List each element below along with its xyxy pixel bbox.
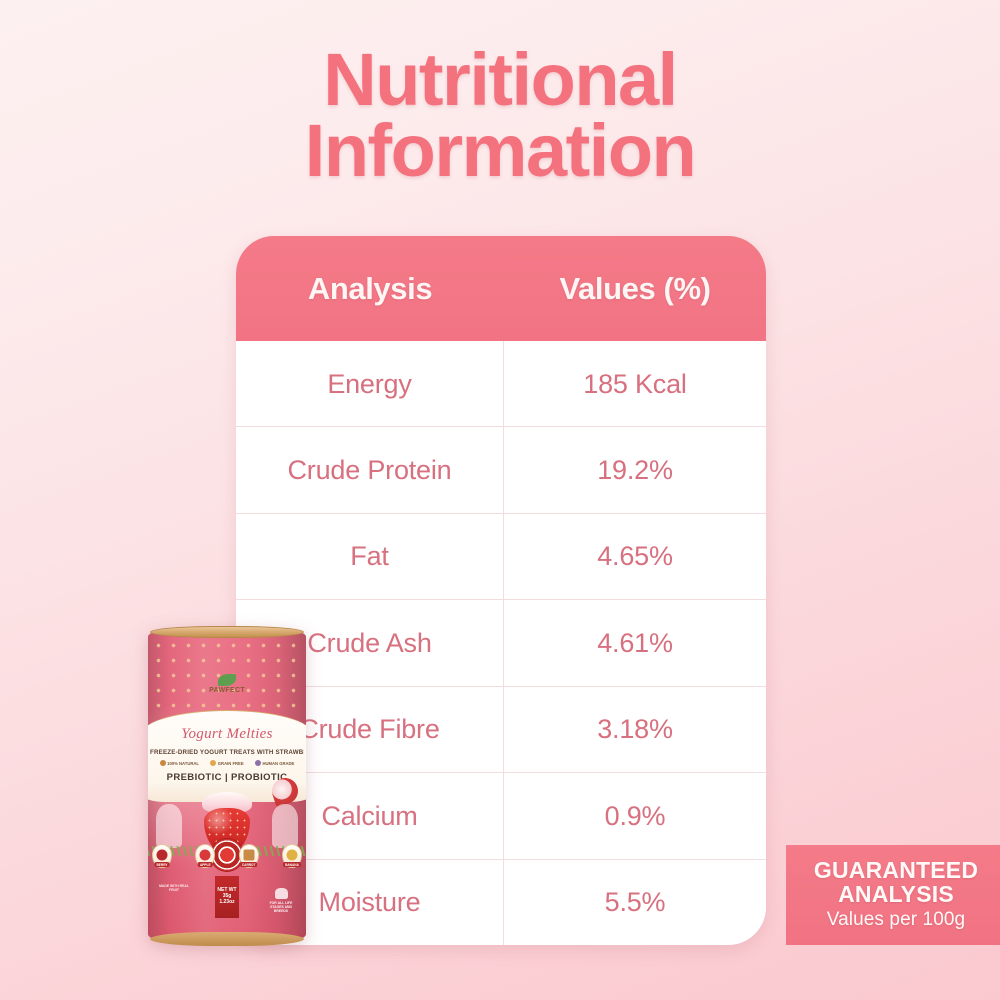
can-note-right-label: FOR ALL LIFE STAGES AND BREEDS <box>264 901 298 913</box>
column-header-values: Values (%) <box>504 271 766 307</box>
table-row: Moisture 5.5% <box>236 859 766 945</box>
ingredient-label: BANANA <box>283 862 301 867</box>
table-header-row: Analysis Values (%) <box>236 236 766 341</box>
table-row: Energy 185 Kcal <box>236 341 766 426</box>
page-title: Nutritional Information <box>0 44 1000 186</box>
dog-icon <box>275 888 288 899</box>
cell-value: 0.9% <box>504 773 766 858</box>
cell-value: 185 Kcal <box>504 341 766 426</box>
ingredient-label: APPLE <box>198 862 213 867</box>
claim-item: GRAIN FREE <box>210 760 243 766</box>
ingredient-banana-icon: BANANA <box>282 844 302 868</box>
cell-value: 3.18% <box>504 687 766 772</box>
title-line-2: Information <box>0 115 1000 186</box>
product-subtitle: FREEZE-DRIED YOGURT TREATS WITH STRAWBER… <box>150 749 304 756</box>
table-body: Energy 185 Kcal Crude Protein 19.2% Fat … <box>236 341 766 945</box>
claim-item: HUMAN GRADE <box>255 760 294 766</box>
brand-name: PAWFECT <box>200 687 254 694</box>
net-weight-label: NET WT 35g 1.23oz <box>215 888 239 905</box>
ingredient-label: BERRY <box>154 862 169 867</box>
nutrition-table: Analysis Values (%) Energy 185 Kcal Crud… <box>236 236 766 945</box>
ingredient-carrot-icon: CARROT <box>239 844 259 868</box>
table-row: Fat 4.65% <box>236 513 766 599</box>
dog-silhouette-icon <box>272 804 298 848</box>
cell-value: 5.5% <box>504 860 766 945</box>
cell-value: 19.2% <box>504 427 766 512</box>
badge-line-analysis: ANALYSIS <box>838 883 954 906</box>
title-line-1: Nutritional <box>0 44 1000 115</box>
can-lid <box>150 626 304 638</box>
column-header-analysis: Analysis <box>236 271 504 307</box>
cell-value: 4.65% <box>504 514 766 599</box>
guaranteed-analysis-badge: GUARANTEED ANALYSIS Values per 100g <box>786 845 1000 945</box>
dog-silhouette-icon <box>156 804 182 848</box>
claim-item: 100% NATURAL <box>160 760 199 766</box>
badge-line-guaranteed: GUARANTEED <box>814 859 978 882</box>
cell-analysis: Energy <box>236 341 504 426</box>
cell-value: 4.61% <box>504 600 766 685</box>
can-body: PAWFECT Yogurt Melties FREEZE-DRIED YOGU… <box>148 632 306 939</box>
cell-analysis: Fat <box>236 514 504 599</box>
badge-line-values-per: Values per 100g <box>827 909 965 931</box>
ingredient-label: CARROT <box>240 862 258 867</box>
product-can-image: PAWFECT Yogurt Melties FREEZE-DRIED YOGU… <box>148 626 306 946</box>
ingredient-berry-icon: BERRY <box>152 844 172 868</box>
grain-free-icon <box>210 760 216 766</box>
leaf-icon <box>218 674 236 686</box>
claim-label: HUMAN GRADE <box>262 761 294 766</box>
ingredient-apple-icon: APPLE <box>195 844 215 868</box>
product-name: Yogurt Melties <box>148 726 306 743</box>
table-row: Calcium 0.9% <box>236 772 766 858</box>
ingredient-icons: BERRY APPLE CARROT BANANA <box>152 844 302 868</box>
natural-icon <box>160 760 166 766</box>
net-weight-badge: NET WT 35g 1.23oz <box>215 876 239 918</box>
human-grade-icon <box>255 760 261 766</box>
brand-logo: PAWFECT <box>200 674 254 704</box>
can-note-left-label: MADE WITH REAL FRUIT <box>156 884 192 892</box>
can-note-right: FOR ALL LIFE STAGES AND BREEDS <box>264 888 298 913</box>
table-row: Crude Protein 19.2% <box>236 426 766 512</box>
cell-analysis: Crude Protein <box>236 427 504 512</box>
claim-label: GRAIN FREE <box>218 761 244 766</box>
product-claims: 100% NATURAL GRAIN FREE HUMAN GRADE <box>154 760 300 766</box>
claim-label: 100% NATURAL <box>167 761 199 766</box>
table-row: Crude Ash 4.61% <box>236 599 766 685</box>
can-base <box>150 932 304 946</box>
table-row: Crude Fibre 3.18% <box>236 686 766 772</box>
can-note-left: MADE WITH REAL FRUIT <box>156 884 192 892</box>
